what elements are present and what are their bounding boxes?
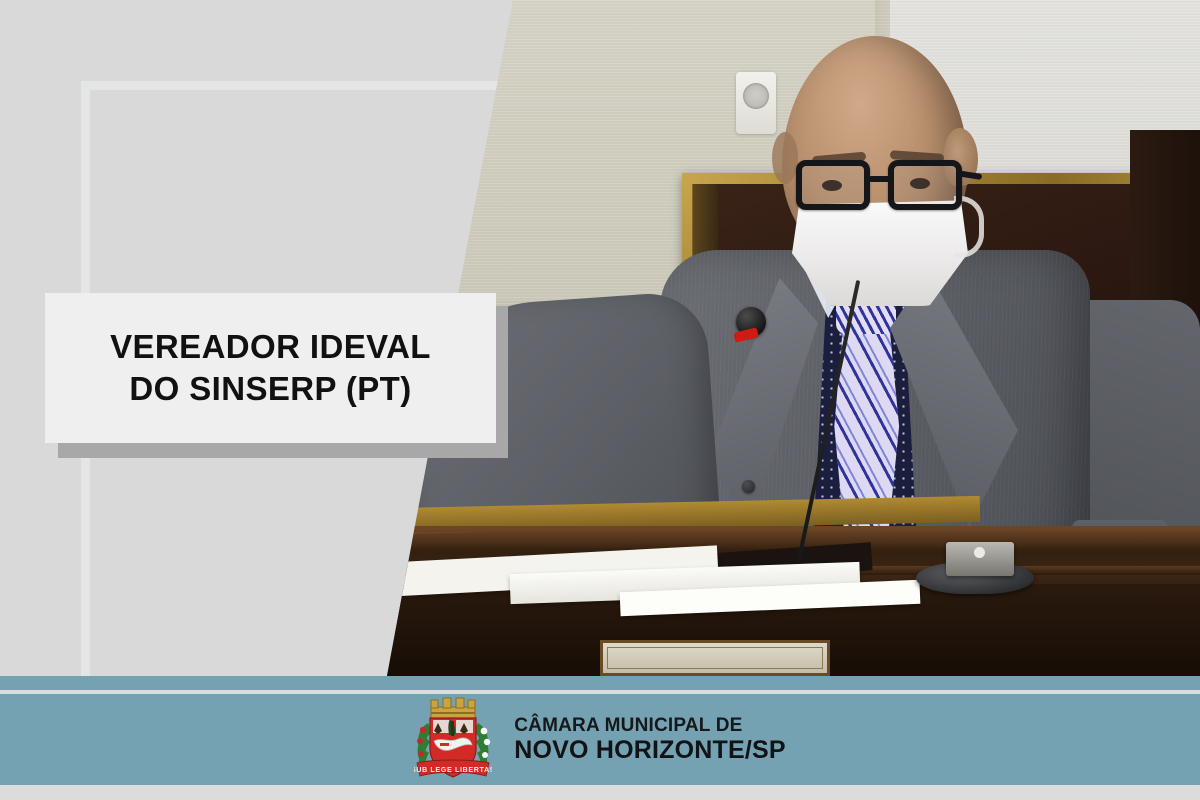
footer-line-1: CÂMARA MUNICIPAL DE [514, 715, 785, 736]
banner-stage: VEREADOR IDEVAL DO SINSERP (PT) [0, 0, 1200, 800]
ear-left [772, 132, 798, 184]
footer-accent-bar-top [0, 676, 1200, 690]
footer-bar: SUB LEGE LIBERTAS CÂMARA MUNICIPAL DE NO… [0, 694, 1200, 785]
title-line-2: DO SINSERP (PT) [129, 368, 411, 410]
coat-of-arms-icon: SUB LEGE LIBERTAS [414, 697, 492, 783]
title-card: VEREADOR IDEVAL DO SINSERP (PT) [45, 293, 496, 443]
suit-button [742, 480, 755, 493]
footer-line-2: NOVO HORIZONTE/SP [514, 736, 785, 764]
footer-bottom-strip [0, 785, 1200, 800]
footer-text: CÂMARA MUNICIPAL DE NOVO HORIZONTE/SP [514, 715, 785, 764]
microphone-control-box [946, 542, 1014, 576]
podium-plaque [600, 640, 830, 676]
title-line-1: VEREADOR IDEVAL [110, 326, 431, 368]
svg-text:SUB LEGE LIBERTAS: SUB LEGE LIBERTAS [414, 765, 492, 774]
eyeglasses-icon [796, 160, 968, 216]
